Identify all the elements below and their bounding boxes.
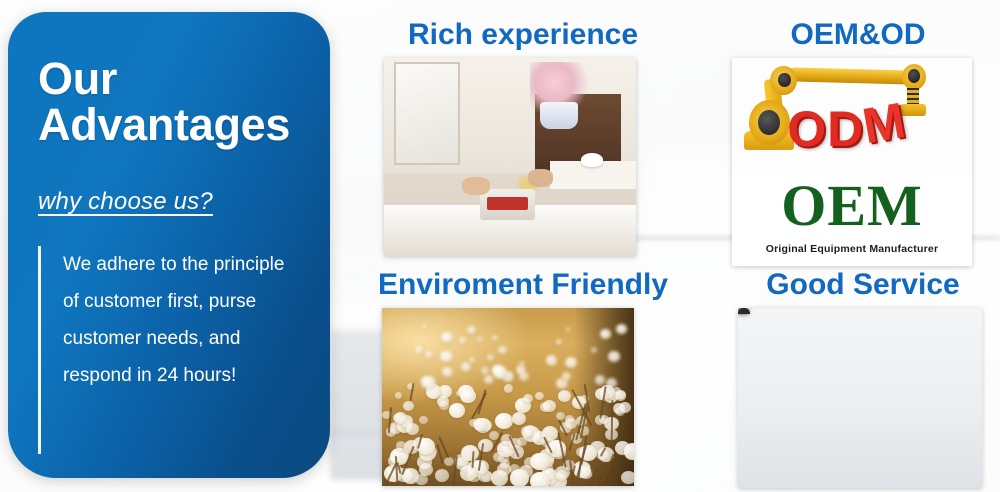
panel-body-wrapper: We adhere to the principle of customer f… bbox=[38, 246, 330, 454]
card-title-oem-odm: OEM&OD bbox=[716, 18, 1000, 52]
photo-business-meeting bbox=[384, 58, 636, 256]
panel-subtitle: why choose us? bbox=[38, 188, 330, 216]
card-title-rich-experience: Rich experience bbox=[378, 18, 668, 52]
oem-wordmark: OEM bbox=[732, 177, 972, 235]
page-title: Our Advantages bbox=[38, 56, 330, 148]
photo-call-center bbox=[738, 308, 982, 488]
oem-caption: Original Equipment Manufacturer bbox=[732, 243, 972, 255]
card-title-environment-friendly: Enviroment Friendly bbox=[356, 268, 690, 302]
card-rich-experience: Rich experience bbox=[378, 18, 668, 256]
card-oem-odm: OEM&OD ODM OEM Original Equipment Manufa… bbox=[716, 18, 1000, 266]
odm-letters: OD bbox=[787, 101, 864, 157]
card-title-good-service: Good Service bbox=[726, 268, 1000, 302]
title-line-2: Advantages bbox=[38, 102, 330, 148]
title-line-1: Our bbox=[38, 53, 117, 104]
feature-cards: Rich experience OEM&OD bbox=[336, 0, 1000, 492]
photo-cotton-field bbox=[382, 308, 634, 486]
card-environment-friendly: Enviroment Friendly bbox=[356, 268, 690, 486]
card-good-service: Good Service bbox=[726, 268, 1000, 488]
photo-oem-odm-logo: ODM OEM Original Equipment Manufacturer bbox=[732, 58, 972, 266]
advantages-panel: Our Advantages why choose us? We adhere … bbox=[8, 12, 330, 478]
panel-body-text: We adhere to the principle of customer f… bbox=[63, 246, 291, 454]
odm-letter-m: M bbox=[859, 95, 910, 152]
odm-wordmark: ODM bbox=[787, 104, 965, 154]
accent-rule bbox=[38, 246, 41, 454]
